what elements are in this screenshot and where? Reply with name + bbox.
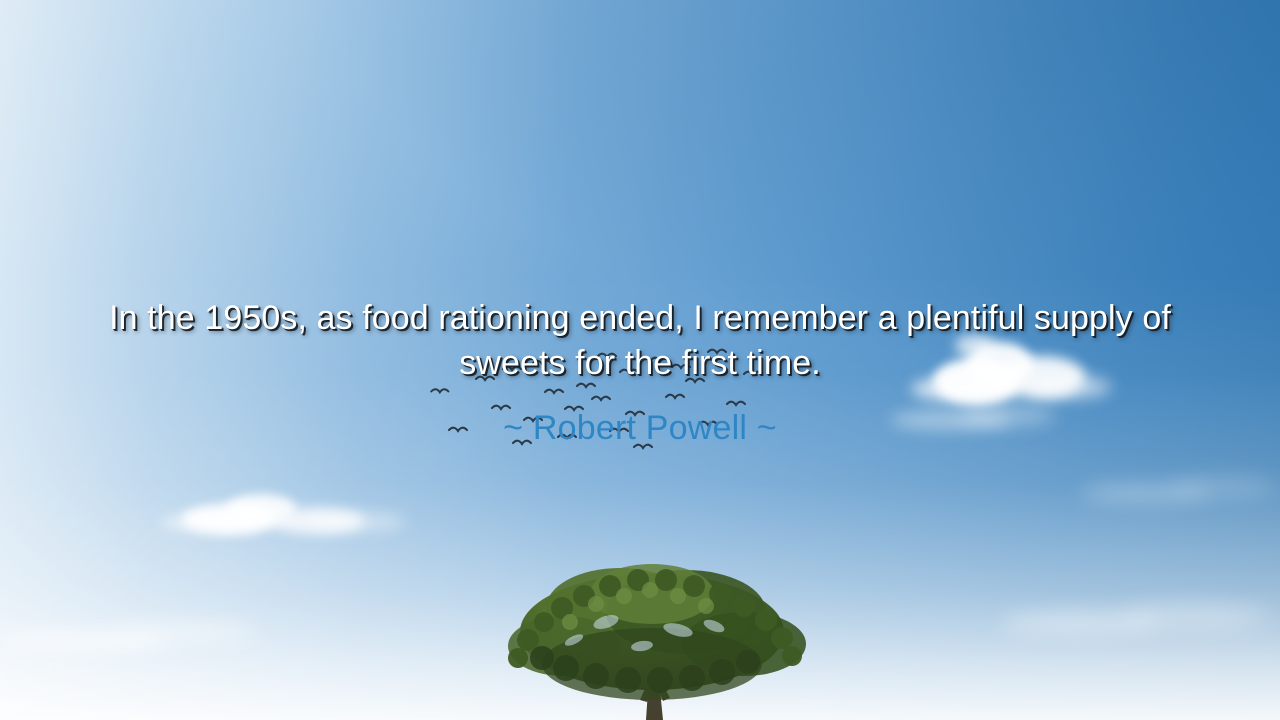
quote-text: In the 1950s, as food rationing ended, I… (90, 296, 1190, 386)
quote-block: In the 1950s, as food rationing ended, I… (0, 0, 1280, 720)
quote-author: ~ Robert Powell ~ (90, 406, 1190, 450)
quote-image: In the 1950s, as food rationing ended, I… (0, 0, 1280, 720)
